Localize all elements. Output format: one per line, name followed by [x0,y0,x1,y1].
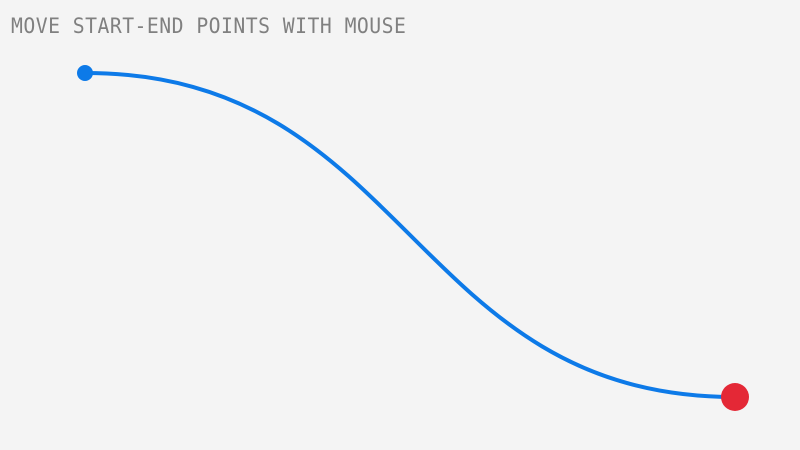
bezier-curve-canvas[interactable] [0,0,800,450]
app-canvas: MOVE START-END POINTS WITH MOUSE [0,0,800,450]
curve-start-handle[interactable] [77,65,93,81]
curve-end-handle[interactable] [721,383,749,411]
page-title: MOVE START-END POINTS WITH MOUSE [11,14,406,38]
